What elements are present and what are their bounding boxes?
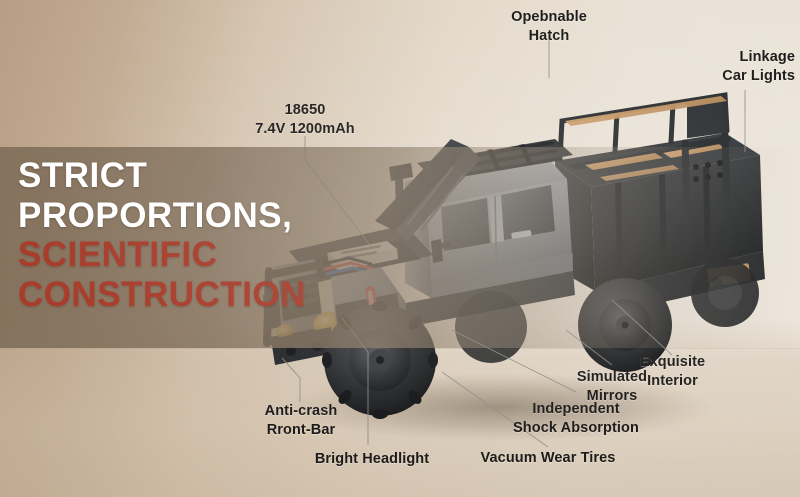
callout-vacuum-wear-tires: Vacuum Wear Tires bbox=[450, 449, 646, 468]
headline-line-3: SCIENTIFIC bbox=[18, 235, 448, 275]
callout-battery-spec: 18650 7.4V 1200mAh bbox=[235, 101, 375, 138]
page-title: STRICT PROPORTIONS, SCIENTIFIC CONSTRUCT… bbox=[18, 156, 448, 314]
callout-linkage-car-lights: Linkage Car Lights bbox=[655, 48, 795, 85]
callout-independent-shock: Independent Shock Absorption bbox=[485, 400, 667, 437]
callout-openable-hatch: Opebnable Hatch bbox=[489, 8, 609, 45]
callout-anti-crash-front-bar: Anti-crash Rront-Bar bbox=[240, 402, 362, 439]
headline-line-1: STRICT bbox=[18, 156, 448, 196]
product-feature-banner: STRICT PROPORTIONS, SCIENTIFIC CONSTRUCT… bbox=[0, 0, 800, 497]
headline-line-2: PROPORTIONS, bbox=[18, 196, 448, 236]
headline-line-4: CONSTRUCTION bbox=[18, 275, 448, 315]
callout-bright-headlight: Bright Headlight bbox=[296, 450, 448, 469]
front-wheel-far bbox=[455, 291, 527, 363]
rear-wheel-far bbox=[691, 259, 759, 327]
